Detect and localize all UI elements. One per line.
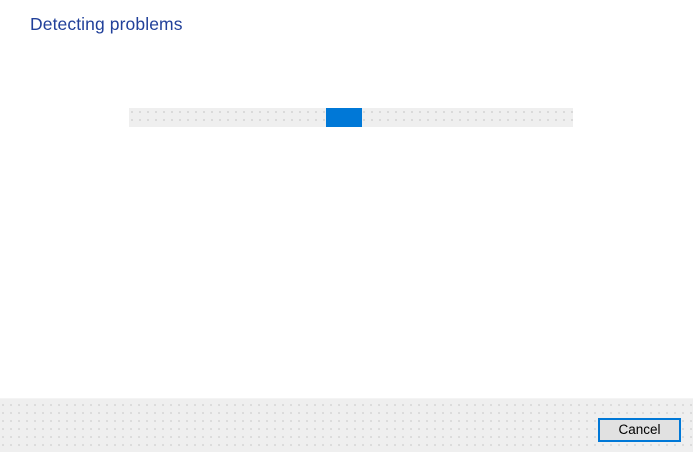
content-area: Detecting problems — [0, 0, 693, 398]
page-title: Detecting problems — [30, 12, 183, 36]
indeterminate-progress-bar — [129, 108, 573, 127]
footer-bar: Cancel — [0, 398, 693, 452]
troubleshooter-window: Detecting problems Cancel — [0, 0, 693, 452]
cancel-button[interactable]: Cancel — [598, 418, 681, 442]
progress-indicator — [326, 108, 362, 127]
